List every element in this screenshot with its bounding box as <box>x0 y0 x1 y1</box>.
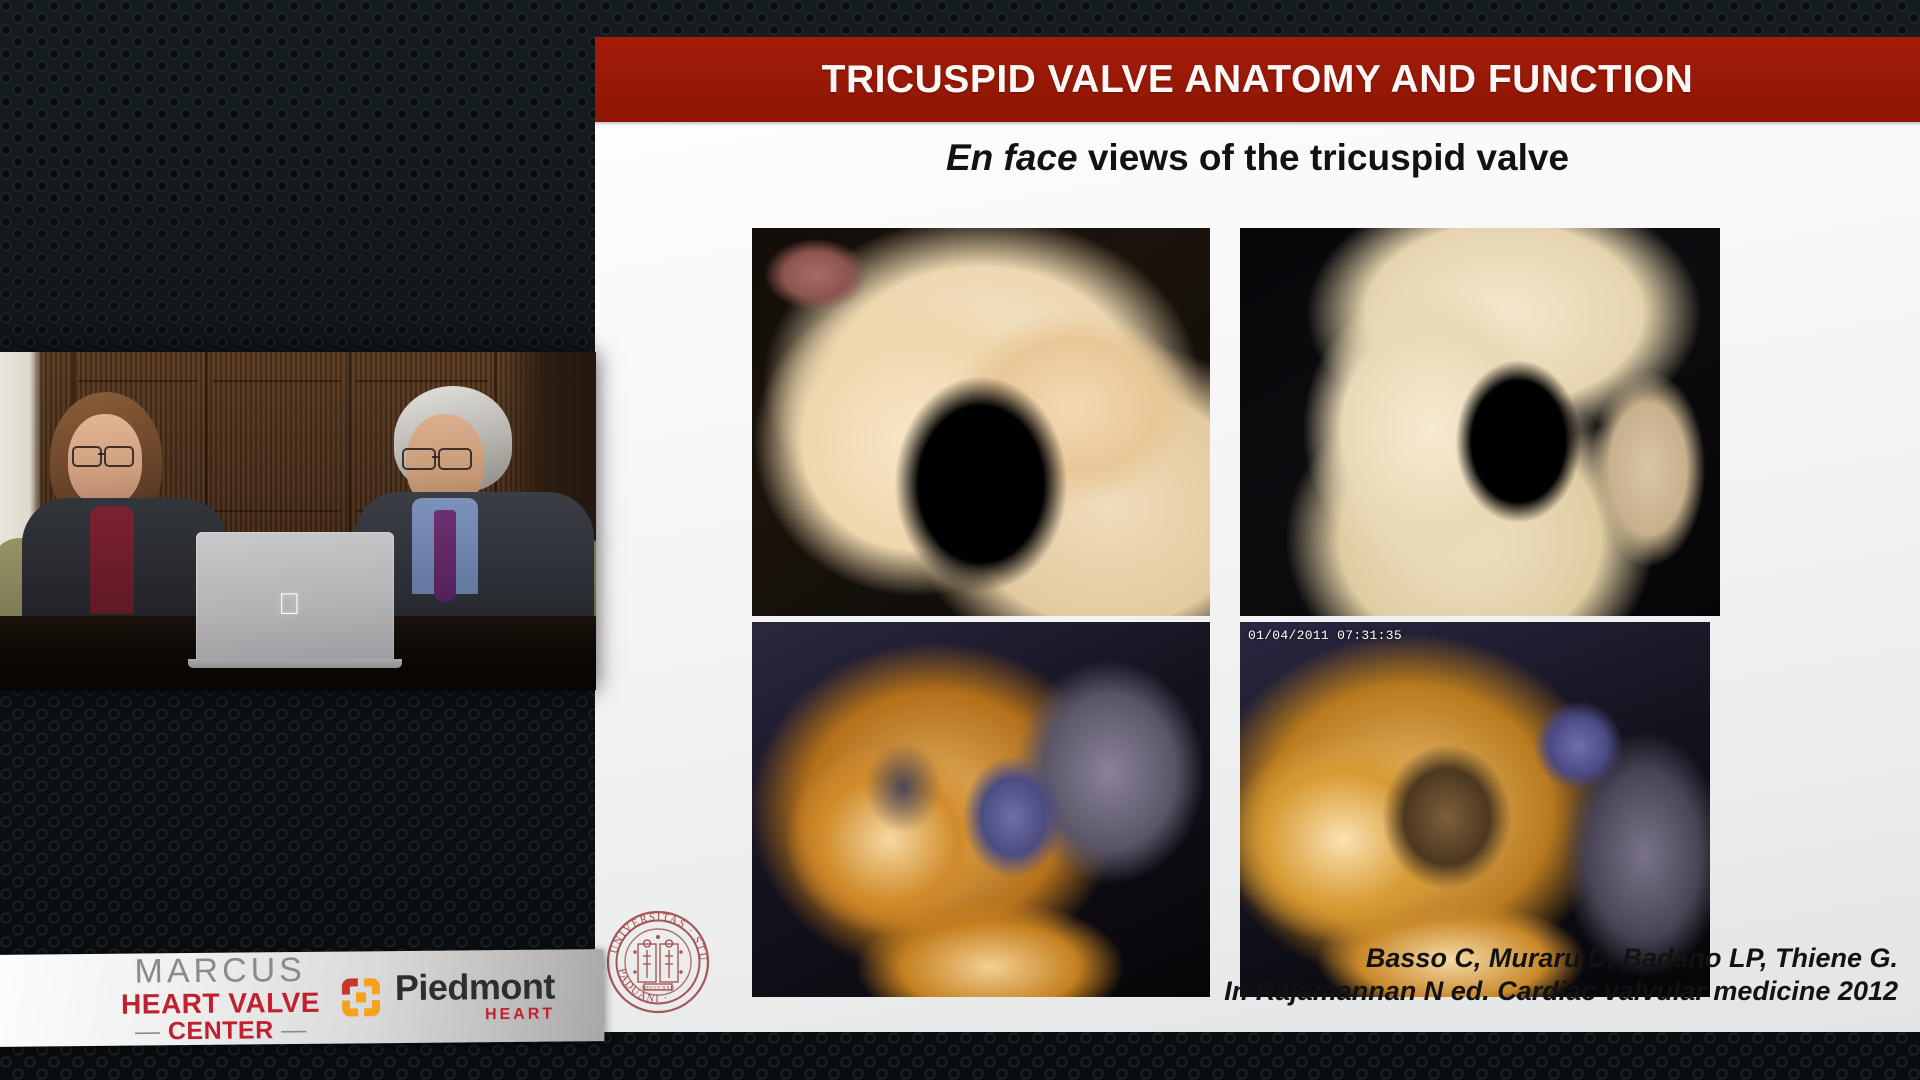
screen-root: TRICUSPID VALVE ANATOMY AND FUNCTION En … <box>0 0 1920 1080</box>
wood-panel-seam <box>356 380 488 382</box>
logo-center-text: CENTER <box>168 1016 274 1045</box>
image-gross-specimen-long-axis-view <box>1240 228 1720 616</box>
logo-center-dash-right: — <box>281 1016 307 1044</box>
logo-center-word: — CENTER — <box>121 1018 320 1045</box>
citation-line-2: In Rajamannan N ed. Cardiac valvular med… <box>1224 975 1898 1008</box>
university-of-padua-seal: UNIVERSITAS · STUDII PADUANI · MDCCCXXII <box>602 906 714 1018</box>
logo-heart-valve-word: HEART VALVE <box>121 989 320 1019</box>
image-3d-echo-en-face-view-left <box>752 622 1210 997</box>
presenter-right-tie <box>434 510 456 602</box>
svg-text:UNIVERSITAS · STUDII: UNIVERSITAS · STUDII <box>602 906 708 962</box>
image-gross-specimen-en-face-right-atrial-view <box>752 228 1210 616</box>
apple-logo-icon:  <box>278 590 301 620</box>
glasses-icon <box>438 448 472 470</box>
presentation-slide: TRICUSPID VALVE ANATOMY AND FUNCTION En … <box>595 37 1920 1032</box>
laptop-base <box>188 659 402 668</box>
speaker-video-feed[interactable]:  <box>0 352 596 690</box>
wood-panel-seam <box>78 380 198 382</box>
echo-timestamp-overlay: 01/04/2011 07:31:35 <box>1248 628 1402 643</box>
glasses-icon <box>72 446 102 467</box>
piedmont-heart-logo: Piedmont HEART <box>336 969 556 1025</box>
slide-citation: Basso C, Muraru D, Badano LP, Thiene G. … <box>1224 942 1898 1008</box>
piedmont-mark-icon <box>336 972 386 1022</box>
presenter-left-blouse <box>90 506 134 614</box>
laptop-lid:  <box>196 532 394 660</box>
svg-text:MDCCCXXII: MDCCCXXII <box>641 986 674 992</box>
logo-marcus-word: MARCUS <box>121 953 320 989</box>
glasses-icon <box>402 448 436 470</box>
logo-center-dash-left: — <box>135 1017 161 1045</box>
wood-panel-seam <box>213 380 341 382</box>
image-grid: 01/04/2011 07:31:35 <box>595 37 1920 1032</box>
citation-line-1: Basso C, Muraru D, Badano LP, Thiene G. <box>1224 942 1898 975</box>
glasses-bridge <box>432 456 439 458</box>
logo-piedmont-sub: HEART <box>395 1007 555 1025</box>
marcus-heart-valve-center-logo: MARCUS HEART VALVE — CENTER — <box>121 953 321 1045</box>
image-3d-echo-en-face-view-right: 01/04/2011 07:31:35 <box>1240 622 1710 997</box>
sponsor-logo-bar: MARCUS HEART VALVE — CENTER — <box>0 949 604 1047</box>
glasses-icon <box>104 446 134 467</box>
logo-piedmont-name: Piedmont <box>395 969 555 1007</box>
glasses-bridge <box>98 453 104 455</box>
